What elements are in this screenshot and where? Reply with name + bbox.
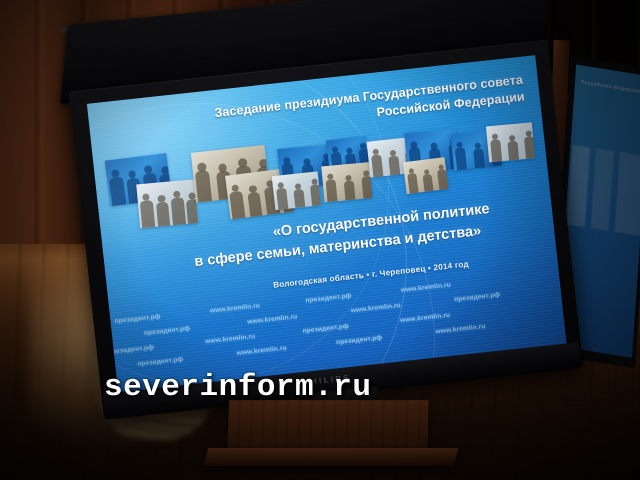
collage-figure-body (109, 176, 126, 206)
collage-figure-body (455, 147, 468, 170)
podium-base-plinth (204, 448, 458, 466)
collage-photo (136, 179, 198, 228)
severinform-watermark: severinform.ru (104, 370, 524, 405)
collage-figure-body (507, 140, 519, 160)
collage-figure-body (171, 197, 186, 225)
background-display-collage (567, 145, 640, 237)
collage-figure-body (490, 139, 502, 162)
collage-figure-body (325, 179, 337, 202)
collage-photo (321, 162, 372, 202)
collage-figure-body (407, 173, 419, 194)
collage-figure-body (437, 169, 448, 190)
collage-photo (403, 157, 449, 194)
collage-figure-body (156, 201, 171, 226)
monitor-screen: Заседание президиума Государственного со… (87, 55, 567, 394)
collage-figure-body (388, 155, 400, 175)
collage-figure-body (310, 184, 321, 206)
collage-figure-body (371, 154, 384, 177)
collage-figure-body (195, 170, 213, 202)
collage-figure-body (344, 180, 356, 200)
collage-figure-body (473, 148, 485, 168)
collage-figure-body (140, 200, 155, 228)
collage-figure-body (361, 176, 372, 199)
collage-photo (272, 171, 321, 210)
collage-figure-body (247, 191, 263, 217)
collage-figure-body (423, 174, 434, 192)
collage-figure-body (293, 189, 305, 208)
photo-scene: Российской Федерации Заседание президиум… (0, 0, 640, 480)
background-display-heading: Российской Федерации (581, 79, 640, 96)
presentation-slide: Заседание президиума Государственного со… (87, 55, 567, 394)
collage-figure-body (230, 191, 246, 220)
collage-photo (486, 122, 535, 162)
philips-monitor: Заседание президиума Государственного со… (38, 0, 588, 430)
collage-figure-body (276, 188, 288, 210)
collage-figure-body (524, 136, 535, 159)
